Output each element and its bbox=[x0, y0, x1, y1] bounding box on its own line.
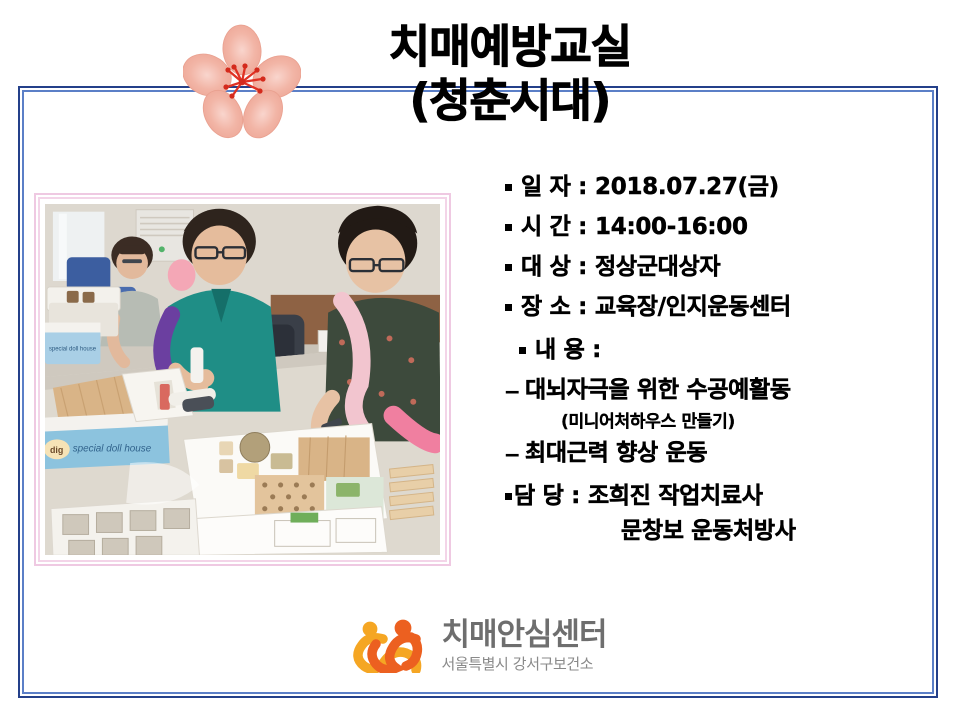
detail-value-time: 14:00-16:00 bbox=[595, 212, 748, 243]
detail-row-staff-2: 문창보 운동처방사 bbox=[505, 516, 925, 547]
bullet-square-icon bbox=[505, 224, 512, 231]
detail-label-content: 내 용 : bbox=[535, 335, 601, 366]
bullet-square-icon bbox=[519, 347, 526, 354]
svg-text:special doll house: special doll house bbox=[49, 346, 97, 352]
event-details-list: 일 자 : 2018.07.27(금) 시 간 : 14:00-16:00 대 … bbox=[505, 172, 925, 556]
detail-value-staff-1: 조희진 작업치료사 bbox=[588, 481, 763, 512]
detail-row-content-item-2: – 최대근력 향상 운동 bbox=[505, 438, 925, 469]
svg-text:dig: dig bbox=[50, 445, 63, 455]
title-line-2: (청춘시대) bbox=[300, 74, 720, 128]
slide-canvas: 치매예방교실 (청춘시대) bbox=[0, 0, 960, 720]
footer-logo-block: 치매안심센터 서울특별시 강서구보건소 bbox=[0, 618, 960, 674]
detail-row-content-header: 내 용 : bbox=[505, 335, 925, 366]
detail-value-target: 정상군대상자 bbox=[595, 252, 720, 283]
bullet-square-icon bbox=[505, 184, 512, 191]
detail-row-target: 대 상 : 정상군대상자 bbox=[505, 252, 925, 283]
detail-row-place: 장 소 : 교육장/인지운동센터 bbox=[505, 292, 925, 323]
detail-row-time: 시 간 : 14:00-16:00 bbox=[505, 212, 925, 243]
bullet-square-icon bbox=[505, 264, 512, 271]
detail-row-content-note: (미니어처하우스 만들기) bbox=[505, 410, 925, 434]
detail-label-target: 대 상 : bbox=[521, 252, 587, 283]
detail-value-place: 교육장/인지운동센터 bbox=[595, 292, 791, 323]
title-line-1: 치매예방교실 bbox=[300, 20, 720, 74]
two-figures-embrace-logo-icon bbox=[353, 619, 427, 673]
detail-label-time: 시 간 : bbox=[521, 212, 587, 243]
activity-photo-frame: special doll house special doll house di… bbox=[38, 197, 447, 562]
detail-value-staff-2: 문창보 운동처방사 bbox=[621, 516, 796, 547]
bullet-dash-icon: – bbox=[505, 375, 519, 405]
detail-row-staff-1: 담 당 : 조희진 작업치료사 bbox=[505, 481, 925, 512]
detail-label-date: 일 자 : bbox=[521, 172, 587, 203]
logo-organization: 서울특별시 강서구보건소 bbox=[441, 654, 593, 674]
detail-value-content-2: 최대근력 향상 운동 bbox=[525, 438, 707, 469]
detail-value-content-1: 대뇌자극을 위한 수공예활동 bbox=[525, 375, 791, 406]
detail-value-content-note: (미니어처하우스 만들기) bbox=[561, 410, 735, 434]
detail-value-date: 2018.07.27(금) bbox=[595, 172, 779, 203]
activity-photo-illustration: special doll house special doll house di… bbox=[45, 204, 440, 555]
logo-text-group: 치매안심센터 서울특별시 강서구보건소 bbox=[441, 618, 606, 674]
bullet-square-icon bbox=[505, 493, 512, 500]
logo-center-name: 치매안심센터 bbox=[441, 618, 606, 653]
svg-text:special doll house: special doll house bbox=[73, 443, 152, 454]
detail-row-date: 일 자 : 2018.07.27(금) bbox=[505, 172, 925, 203]
bullet-dash-icon: – bbox=[505, 438, 519, 468]
detail-row-content-item-1: – 대뇌자극을 위한 수공예활동 bbox=[505, 375, 925, 406]
slide-title: 치매예방교실 (청춘시대) bbox=[300, 20, 720, 128]
cherry-blossom-flower-icon bbox=[183, 22, 301, 140]
detail-label-place: 장 소 : bbox=[521, 292, 587, 323]
detail-label-staff: 담 당 : bbox=[514, 481, 580, 512]
bullet-square-icon bbox=[505, 304, 512, 311]
activity-photo: special doll house special doll house di… bbox=[45, 204, 440, 555]
